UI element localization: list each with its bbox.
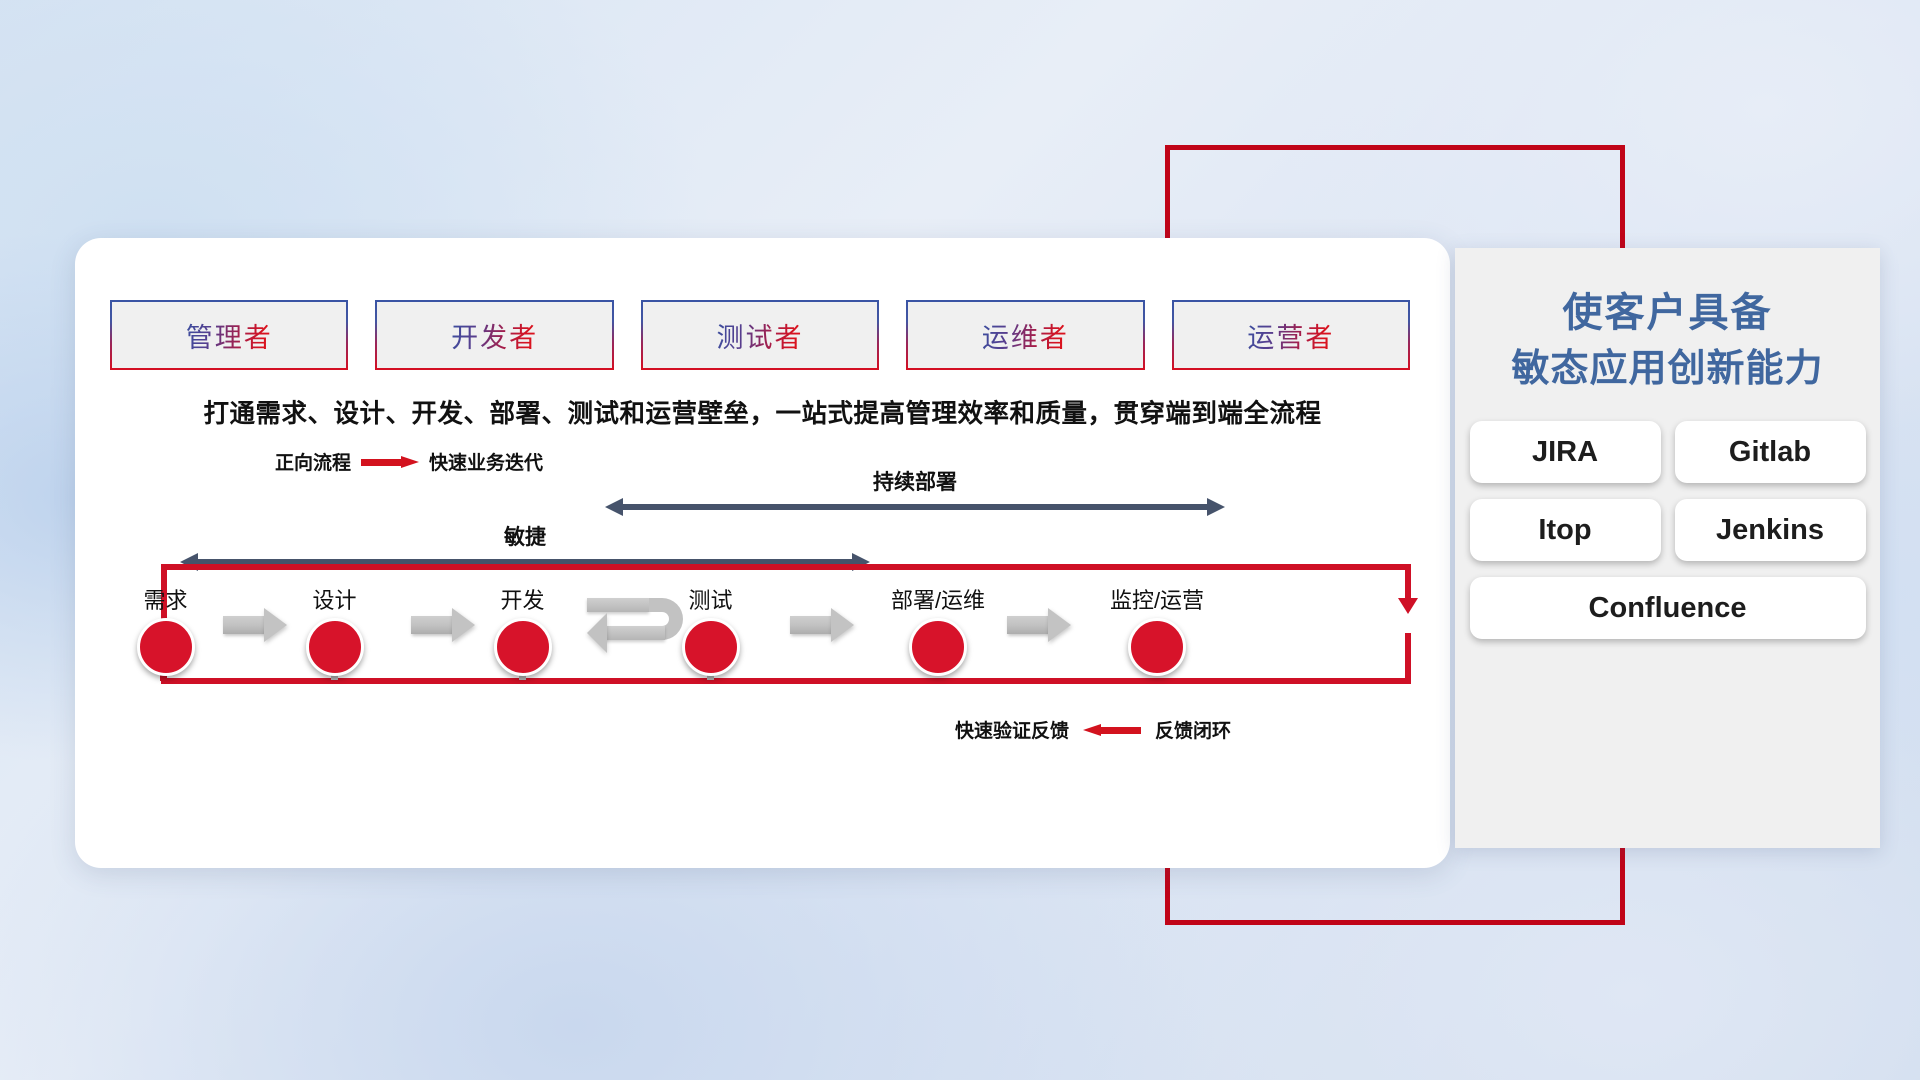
arrow-head-right-icon <box>831 608 854 642</box>
arrow-shaft <box>621 504 1209 510</box>
stage-label: 需求 <box>103 583 228 615</box>
flow-arrow-design-to-develop <box>411 608 475 642</box>
span-arrow-continuous-deployment: 持续部署 <box>605 498 1225 516</box>
tool-chip-list: JIRA Gitlab Itop Jenkins Confluence <box>1470 421 1866 639</box>
red-loop-arrow-down-icon <box>1398 598 1418 614</box>
flow-arrow-deploy-to-monitor <box>1007 608 1071 642</box>
role-chip-operations[interactable]: 运营者 <box>1172 300 1410 370</box>
red-loop-top-line <box>161 564 1411 570</box>
panel-heading-line2: 敏态应用创新能力 <box>1455 342 1880 397</box>
stage-dot <box>1128 618 1186 676</box>
loop-arrow-bottom-shaft <box>603 626 665 640</box>
legend-feedback-loop: 快速验证反馈 反馈闭环 <box>955 716 1231 743</box>
stage-label: 设计 <box>272 583 397 615</box>
legend-forward-left-label: 正向流程 <box>275 448 351 475</box>
tool-chip-gitlab[interactable]: Gitlab <box>1675 421 1866 483</box>
flow-arrow-test-to-deploy <box>790 608 854 642</box>
role-label: 测试者 <box>717 316 804 355</box>
arrow-head-right-icon <box>1048 608 1071 642</box>
subtitle-text: 打通需求、设计、开发、部署、测试和运营壁垒，一站式提高管理效率和质量，贯穿端到端… <box>75 393 1450 430</box>
arrow-head-right-icon <box>1207 498 1225 516</box>
stage-label: 开发 <box>460 583 585 615</box>
role-chip-tester[interactable]: 测试者 <box>641 300 879 370</box>
legend-feedback-left-label: 快速验证反馈 <box>955 716 1069 743</box>
loop-arrow-top-shaft <box>587 598 649 612</box>
stage-design[interactable]: 设计 <box>272 583 397 676</box>
stage-dot <box>909 618 967 676</box>
legend-forward-flow: 正向流程 快速业务迭代 <box>275 448 543 475</box>
span-label: 敏捷 <box>180 521 870 551</box>
red-loop-right-line <box>1405 564 1411 602</box>
stage-label: 监控/运营 <box>1077 583 1237 615</box>
tool-chip-jenkins[interactable]: Jenkins <box>1675 499 1866 561</box>
bracket-top-line <box>1165 145 1625 150</box>
arrow-head-left-icon <box>587 613 607 653</box>
stage-dot <box>682 618 740 676</box>
role-chip-manager[interactable]: 管理者 <box>110 300 348 370</box>
legend-forward-right-label: 快速业务迭代 <box>429 448 543 475</box>
role-label: 运营者 <box>1247 316 1334 355</box>
stage-monitor-operations[interactable]: 监控/运营 <box>1077 583 1237 676</box>
panel-heading: 使客户具备 敏态应用创新能力 <box>1455 248 1880 397</box>
arrow-head-right-icon <box>264 608 287 642</box>
arrow-left-red-icon <box>1083 724 1141 736</box>
value-proposition-panel: 使客户具备 敏态应用创新能力 JIRA Gitlab Itop Jenkins … <box>1455 248 1880 848</box>
stage-label: 部署/运维 <box>858 583 1018 615</box>
role-chip-ops[interactable]: 运维者 <box>906 300 1144 370</box>
role-label: 运维者 <box>982 316 1069 355</box>
stage-dot <box>494 618 552 676</box>
span-label: 持续部署 <box>605 466 1225 496</box>
stage-requirement[interactable]: 需求 <box>103 583 228 676</box>
main-content-card: 管理者 开发者 测试者 运维者 运营者 打通需求、设计、开发、部署、测试和运营壁… <box>75 238 1450 868</box>
red-loop-bottom-line <box>161 678 1411 684</box>
slide-canvas: 管理者 开发者 测试者 运维者 运营者 打通需求、设计、开发、部署、测试和运营壁… <box>0 0 1920 1080</box>
panel-heading-line1: 使客户具备 <box>1455 284 1880 342</box>
arrow-shaft <box>1007 616 1049 634</box>
arrow-shaft <box>411 616 453 634</box>
arrow-shaft <box>790 616 832 634</box>
flow-loop-arrow-develop-test <box>587 596 683 650</box>
stage-develop[interactable]: 开发 <box>460 583 585 676</box>
stage-dot <box>137 618 195 676</box>
role-chip-developer[interactable]: 开发者 <box>375 300 613 370</box>
legend-feedback-right-label: 反馈闭环 <box>1155 716 1231 743</box>
arrow-shaft <box>223 616 265 634</box>
arrow-right-red-icon <box>361 456 419 468</box>
stage-deploy-ops[interactable]: 部署/运维 <box>858 583 1018 676</box>
red-loop-right-down-line <box>1405 633 1411 684</box>
stage-dot <box>306 618 364 676</box>
roles-row: 管理者 开发者 测试者 运维者 运营者 <box>110 300 1410 370</box>
tool-chip-jira[interactable]: JIRA <box>1470 421 1661 483</box>
arrow-head-right-icon <box>452 608 475 642</box>
bracket-bottom-line <box>1165 920 1625 925</box>
flow-arrow-requirement-to-design <box>223 608 287 642</box>
role-label: 管理者 <box>186 316 273 355</box>
role-label: 开发者 <box>451 316 538 355</box>
tool-chip-confluence[interactable]: Confluence <box>1470 577 1866 639</box>
tool-chip-itop[interactable]: Itop <box>1470 499 1661 561</box>
